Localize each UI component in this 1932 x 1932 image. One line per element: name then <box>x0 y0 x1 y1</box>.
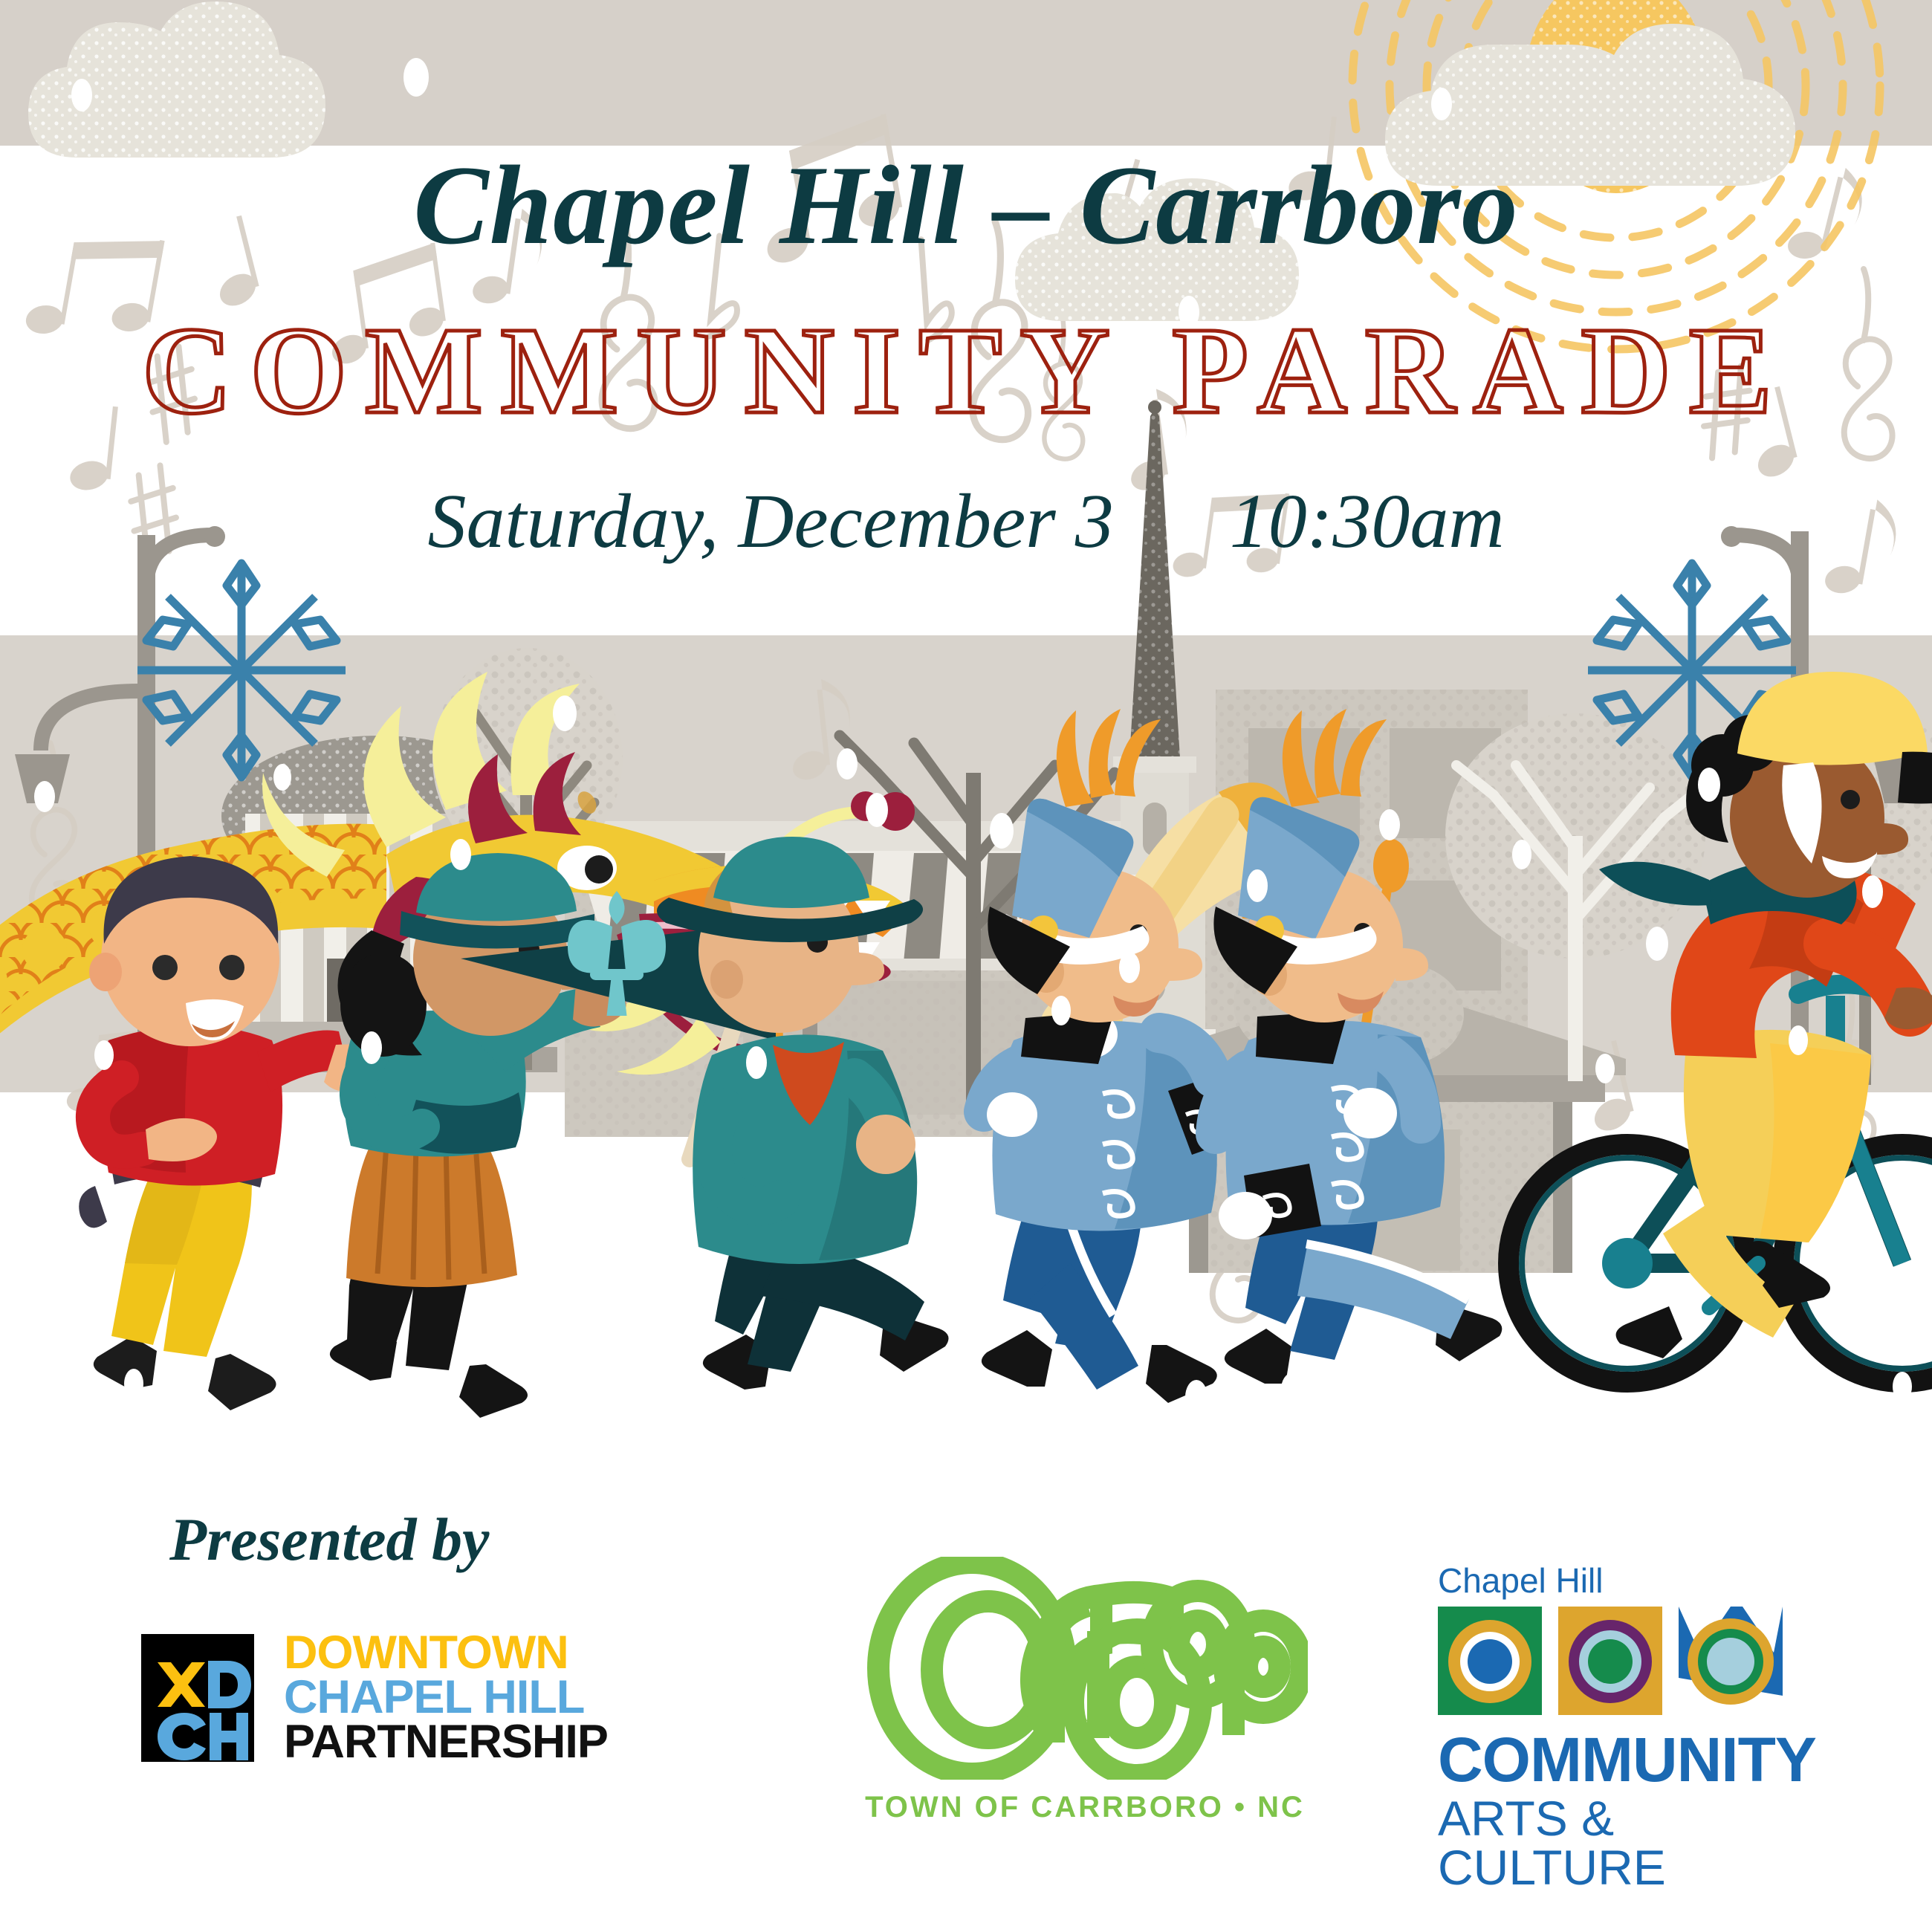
sponsor-footer: Presented by DOWNTOWN CHAPEL HILL PARTNE… <box>0 1419 1932 1932</box>
dch-monogram-mark <box>141 1634 254 1762</box>
dch-line-partnership: PARTNERSHIP <box>284 1720 608 1765</box>
event-date: Saturday, December 3 <box>427 483 1113 560</box>
chcac-chapel-hill-label: Chapel Hill <box>1438 1560 1809 1601</box>
dch-line-downtown: DOWNTOWN <box>284 1631 608 1676</box>
sponsor-logo-town-of-carrboro[interactable]: TOWN OF CARRBORO • NC <box>862 1557 1308 1824</box>
chcac-line-arts-culture: ARTS & CULTURE <box>1438 1794 1809 1892</box>
dch-line-chapel-hill: CHAPEL HILL <box>284 1676 608 1720</box>
poster-date-time: Saturday, December 3 10:30am <box>0 483 1932 560</box>
event-time: 10:30am <box>1230 483 1505 560</box>
carrboro-tagline: TOWN OF CARRBORO • NC <box>862 1791 1308 1824</box>
carrboro-wordmark-icon <box>862 1557 1308 1780</box>
poster-title-line1: Chapel Hill – Carrboro <box>0 149 1932 262</box>
sponsor-logo-chapel-hill-community-arts-and-culture[interactable]: Chapel Hill COMMUNITY ARTS & CULTURE <box>1438 1560 1809 1892</box>
poster-title-line2: COMMUNITY PARADE <box>0 308 1932 433</box>
presented-by-label: Presented by <box>169 1505 489 1575</box>
dch-wordmark: DOWNTOWN CHAPEL HILL PARTNERSHIP <box>284 1631 608 1765</box>
poster-canvas: Chapel Hill – Carrboro COMMUNITY PARADE … <box>0 0 1932 1932</box>
sponsor-logo-downtown-chapel-hill-partnership[interactable]: DOWNTOWN CHAPEL HILL PARTNERSHIP <box>141 1631 608 1765</box>
chcac-three-circles-icon <box>1438 1607 1795 1718</box>
chcac-line-community: COMMUNITY <box>1438 1728 1809 1791</box>
